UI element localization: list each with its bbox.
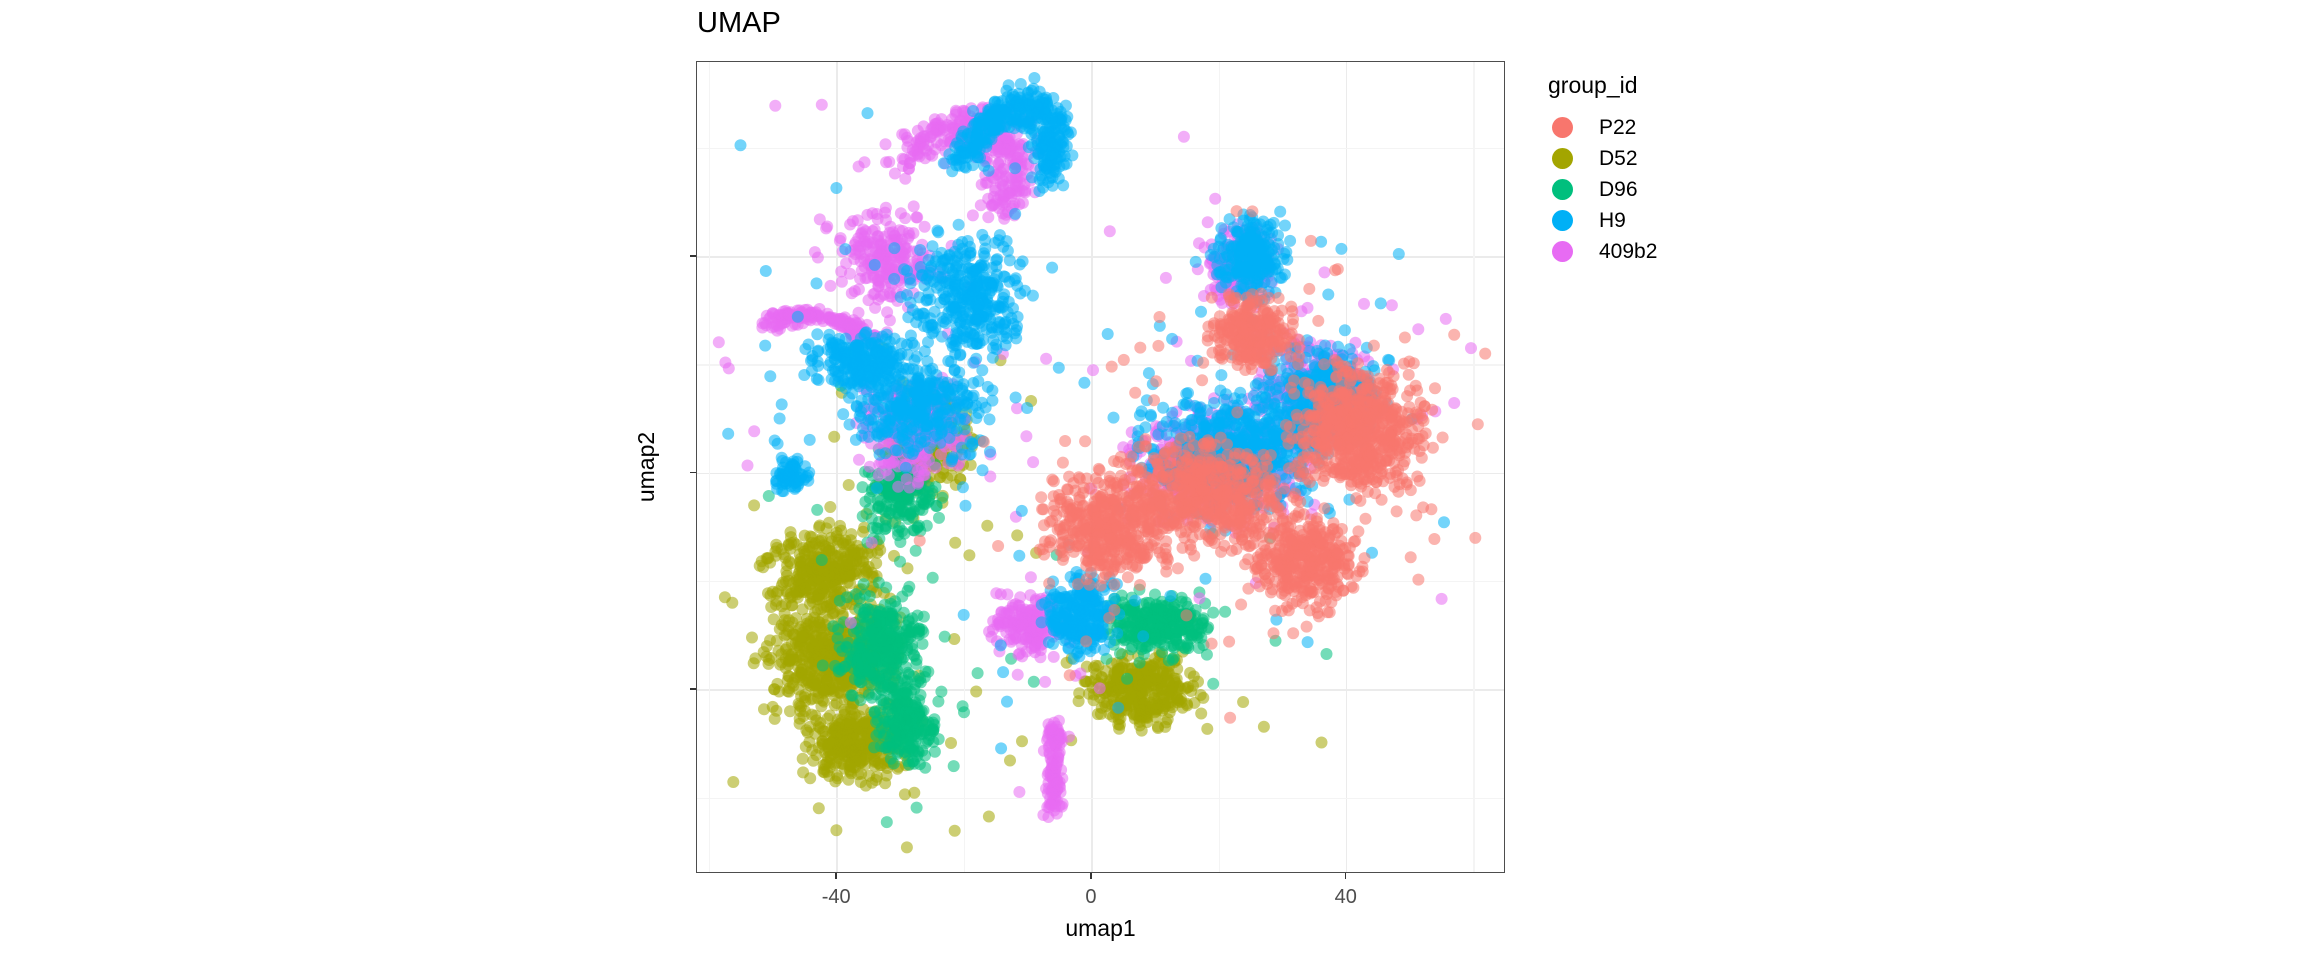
y-tick-mark bbox=[690, 255, 696, 256]
page-title: UMAP bbox=[697, 6, 781, 40]
legend-item-label: H9 bbox=[1599, 209, 1626, 233]
legend-item-d96[interactable]: D96 bbox=[1545, 174, 1845, 205]
legend-key-swatch bbox=[1545, 143, 1579, 174]
legend-title: group_id bbox=[1548, 72, 1845, 98]
legend-item-label: 409b2 bbox=[1599, 240, 1657, 264]
x-tick-label: 0 bbox=[1085, 886, 1096, 909]
legend-color-dot-icon bbox=[1552, 179, 1573, 200]
legend-color-dot-icon bbox=[1552, 148, 1573, 169]
legend-key-swatch bbox=[1545, 236, 1579, 267]
x-axis-label: umap1 bbox=[696, 915, 1505, 942]
legend-item-label: P22 bbox=[1599, 116, 1636, 140]
legend: group_id P22D52D96H9409b2 bbox=[1545, 72, 1845, 267]
x-tick-mark bbox=[1345, 873, 1346, 879]
legend-items: P22D52D96H9409b2 bbox=[1545, 112, 1845, 267]
scatter-points-layer bbox=[697, 62, 1504, 872]
legend-color-dot-icon bbox=[1552, 117, 1573, 138]
x-tick-mark bbox=[835, 873, 836, 879]
legend-key-swatch bbox=[1545, 112, 1579, 143]
chart-canvas: UMAP -40040-40040 umap1 umap2 group_id P… bbox=[0, 0, 2304, 960]
legend-color-dot-icon bbox=[1552, 241, 1573, 262]
legend-key-swatch bbox=[1545, 205, 1579, 236]
y-tick-mark bbox=[690, 472, 696, 473]
legend-item-label: D96 bbox=[1599, 178, 1638, 202]
x-tick-mark bbox=[1090, 873, 1091, 879]
y-axis-label: umap2 bbox=[633, 61, 660, 873]
legend-key-swatch bbox=[1545, 174, 1579, 205]
y-tick-mark bbox=[690, 688, 696, 689]
legend-color-dot-icon bbox=[1552, 210, 1573, 231]
x-tick-label: -40 bbox=[822, 886, 851, 909]
legend-item-409b2[interactable]: 409b2 bbox=[1545, 236, 1845, 267]
legend-item-d52[interactable]: D52 bbox=[1545, 143, 1845, 174]
legend-item-p22[interactable]: P22 bbox=[1545, 112, 1845, 143]
x-tick-label: 40 bbox=[1335, 886, 1357, 909]
legend-item-h9[interactable]: H9 bbox=[1545, 205, 1845, 236]
scatter-plot-svg bbox=[697, 62, 1504, 872]
legend-item-label: D52 bbox=[1599, 147, 1638, 171]
plot-panel bbox=[696, 61, 1505, 873]
